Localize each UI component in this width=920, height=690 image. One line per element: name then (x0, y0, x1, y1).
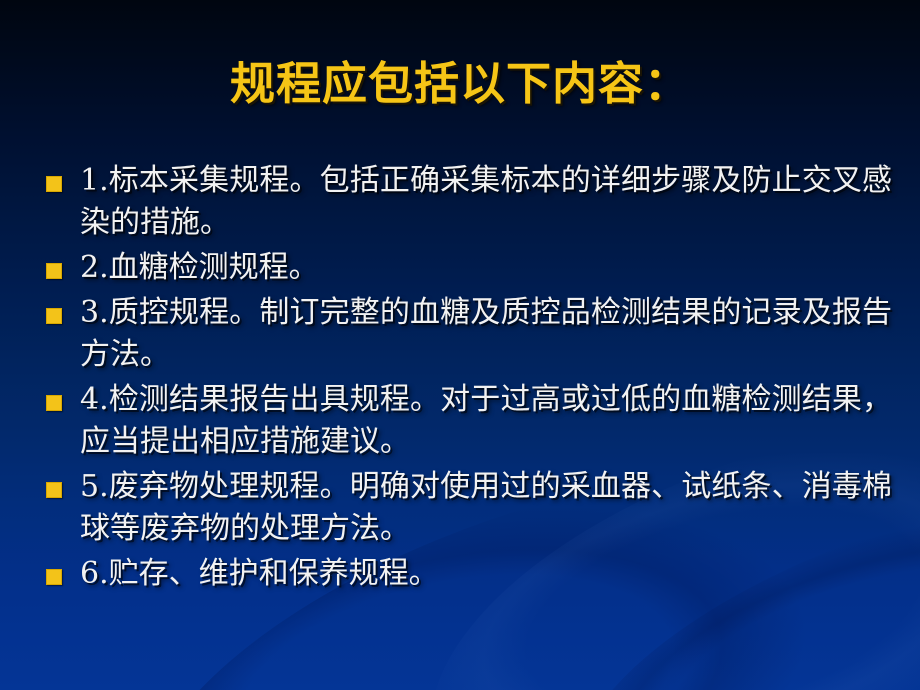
list-item[interactable]: 4.检测结果报告出具规程。对于过高或过低的血糖检测结果，应当提出相应措施建议。 (46, 379, 892, 463)
square-bullet-icon (46, 569, 62, 585)
list-item-text: 5.废弃物处理规程。明确对使用过的采血器、试纸条、消毒棉球等废弃物的处理方法。 (80, 466, 892, 550)
square-bullet-icon (46, 482, 62, 498)
slide-title: 规程应包括以下内容： (0, 56, 920, 112)
list-item[interactable]: 1.标本采集规程。包括正确采集标本的详细步骤及防止交叉感染的措施。 (46, 160, 892, 244)
list-item-text: 6.贮存、维护和保养规程。 (80, 553, 892, 595)
list-item[interactable]: 6.贮存、维护和保养规程。 (46, 553, 892, 595)
list-item[interactable]: 2.血糖检测规程。 (46, 247, 892, 289)
square-bullet-icon (46, 308, 62, 324)
square-bullet-icon (46, 176, 62, 192)
list-item-text: 2.血糖检测规程。 (80, 247, 892, 289)
slide-content: 规程应包括以下内容： 1.标本采集规程。包括正确采集标本的详细步骤及防止交叉感染… (0, 0, 920, 690)
list-item[interactable]: 5.废弃物处理规程。明确对使用过的采血器、试纸条、消毒棉球等废弃物的处理方法。 (46, 466, 892, 550)
square-bullet-icon (46, 263, 62, 279)
list-item-text: 1.标本采集规程。包括正确采集标本的详细步骤及防止交叉感染的措施。 (80, 160, 892, 244)
list-item[interactable]: 3.质控规程。制订完整的血糖及质控品检测结果的记录及报告方法。 (46, 292, 892, 376)
list-item-text: 4.检测结果报告出具规程。对于过高或过低的血糖检测结果，应当提出相应措施建议。 (80, 379, 892, 463)
list-item-text: 3.质控规程。制订完整的血糖及质控品检测结果的记录及报告方法。 (80, 292, 892, 376)
bullet-list: 1.标本采集规程。包括正确采集标本的详细步骤及防止交叉感染的措施。 2.血糖检测… (46, 160, 892, 598)
presentation-slide: 规程应包括以下内容： 1.标本采集规程。包括正确采集标本的详细步骤及防止交叉感染… (0, 0, 920, 690)
square-bullet-icon (46, 395, 62, 411)
